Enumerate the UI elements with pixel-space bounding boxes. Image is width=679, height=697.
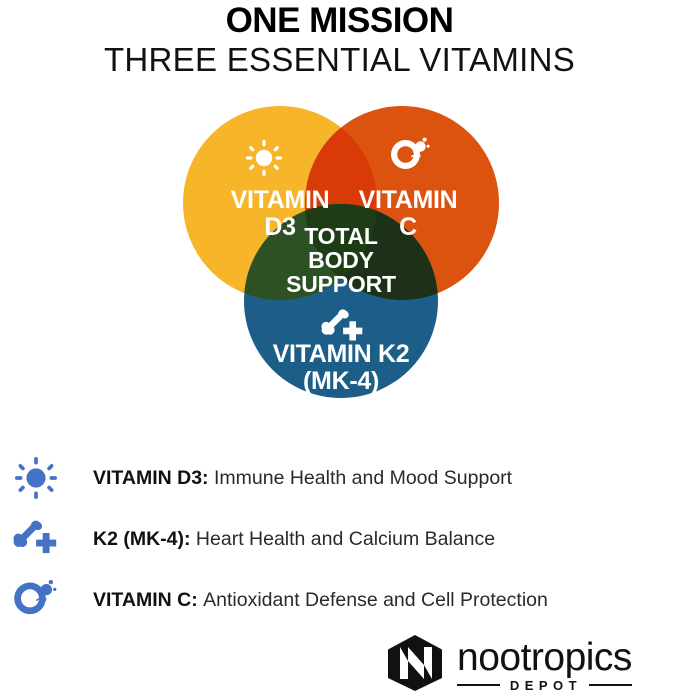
logo-subword: DEPOT	[500, 678, 589, 693]
venn-label-vitamin-k2: VITAMIN K2 (MK-4)	[272, 340, 409, 395]
venn-diagram-svg: 2 VITAMIN D3 VITAMIN C VITAMIN K2 (MK-4)…	[140, 96, 540, 408]
legend-description: Immune Health and Mood Support	[214, 467, 512, 489]
legend-item-vitamin-c: 2 VITAMIN C: Antioxidant Defense and Cel…	[0, 569, 679, 630]
legend-term: K2 (MK-4):	[93, 528, 191, 550]
venn-label-c-line1: VITAMIN	[358, 186, 457, 214]
svg-text:2: 2	[410, 154, 416, 166]
page-subtitle: THREE ESSENTIAL VITAMINS	[0, 41, 679, 79]
legend-description: Heart Health and Calcium Balance	[196, 528, 495, 550]
legend-text: VITAMIN C: Antioxidant Defense and Cell …	[93, 588, 548, 612]
legend-item-vitamin-d3: VITAMIN D3: Immune Health and Mood Suppo…	[0, 447, 679, 508]
legend-item-vitamin-k2: K2 (MK-4): Heart Health and Calcium Bala…	[0, 508, 679, 569]
infographic-header: ONE MISSION THREE ESSENTIAL VITAMINS	[0, 0, 679, 79]
venn-label-c-line2: C	[399, 213, 417, 241]
legend-text: K2 (MK-4): Heart Health and Calcium Bala…	[93, 527, 495, 551]
legend-text: VITAMIN D3: Immune Health and Mood Suppo…	[93, 466, 512, 490]
logo-text: nootropics DEPOT	[457, 639, 632, 693]
logo-rule-right	[589, 684, 632, 686]
legend-description: Antioxidant Defense and Cell Protection	[203, 589, 548, 611]
venn-center-line2: BODY	[308, 247, 374, 273]
sun-icon	[8, 457, 64, 499]
svg-text:2: 2	[35, 596, 42, 610]
o2-molecule-icon: 2	[8, 579, 64, 621]
bone-cross-icon	[8, 518, 64, 560]
nootropics-n-monogram-icon	[386, 634, 444, 697]
venn-label-k2-line1: VITAMIN K2	[272, 340, 409, 368]
venn-center-line3: SUPPORT	[286, 271, 396, 297]
logo-rule-left	[457, 684, 500, 686]
logo-wordmark: nootropics	[457, 639, 632, 677]
venn-center-line1: TOTAL	[304, 223, 378, 249]
page-title: ONE MISSION	[0, 2, 679, 40]
brand-logo: nootropics DEPOT	[386, 634, 632, 697]
venn-label-d3-line2: D3	[264, 213, 295, 241]
venn-diagram: 2 VITAMIN D3 VITAMIN C VITAMIN K2 (MK-4)…	[0, 96, 679, 408]
venn-label-k2-line2: (MK-4)	[303, 367, 379, 395]
venn-label-d3-line1: VITAMIN	[230, 186, 329, 214]
logo-sub-row: DEPOT	[457, 678, 632, 693]
legend-term: VITAMIN C:	[93, 589, 198, 611]
legend-list: VITAMIN D3: Immune Health and Mood Suppo…	[0, 447, 679, 630]
legend-term: VITAMIN D3:	[93, 467, 209, 489]
